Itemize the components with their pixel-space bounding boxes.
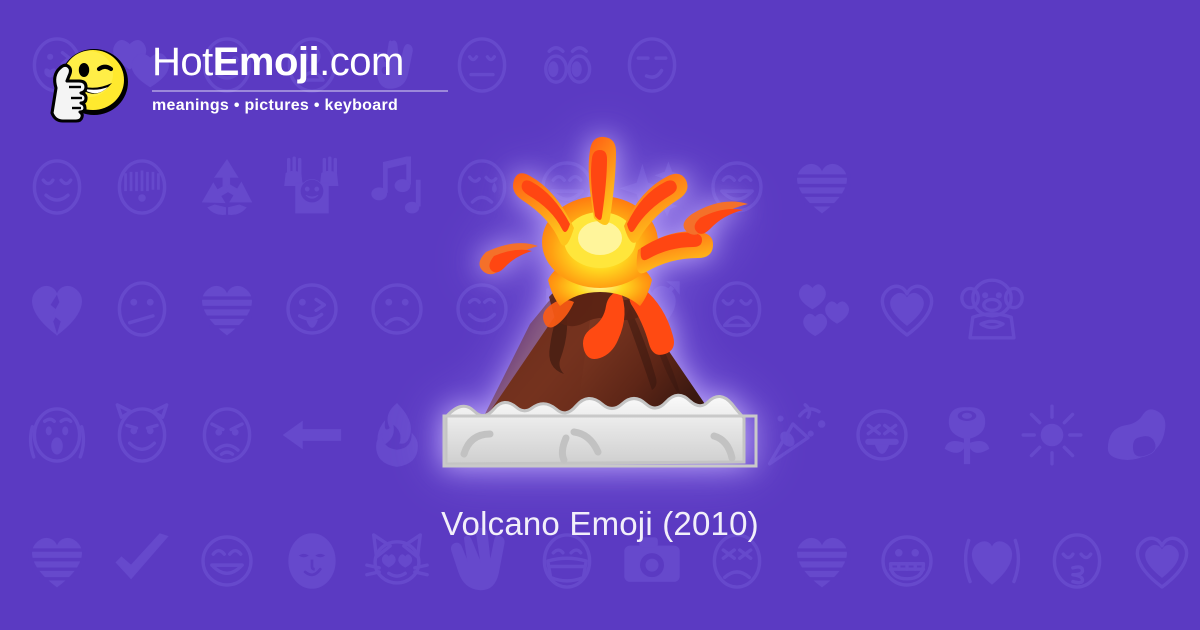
page-canvas: HotEmoji.com meanings • pictures • keybo… xyxy=(0,0,1200,630)
worried-face-icon xyxy=(360,272,434,346)
heart-outline-icon xyxy=(870,272,944,346)
winking-tongue-face-icon xyxy=(275,272,349,346)
broken-heart-icon xyxy=(20,272,94,346)
recycle-icon xyxy=(190,150,264,224)
logo-word-hot: Hot xyxy=(152,40,213,84)
rose-icon xyxy=(930,398,1004,472)
screaming-face-icon xyxy=(20,398,94,472)
squinting-tongue-face-icon xyxy=(845,398,919,472)
logo-text-block: HotEmoji.com meanings • pictures • keybo… xyxy=(152,37,448,115)
fire-icon xyxy=(360,398,434,472)
volcano-emoji xyxy=(424,132,776,488)
logo-wordmark: HotEmoji.com xyxy=(152,39,448,85)
flexed-biceps-icon xyxy=(1100,398,1174,472)
confused-face-icon xyxy=(105,272,179,346)
revolving-hearts-icon xyxy=(785,272,859,346)
zipper-mouth-face-icon xyxy=(105,150,179,224)
site-logo[interactable]: HotEmoji.com meanings • pictures • keybo… xyxy=(38,26,448,126)
striped-heart-icon xyxy=(785,150,859,224)
logo-tagline: meanings • pictures • keyboard xyxy=(152,97,448,115)
logo-word-emoji: Emoji xyxy=(213,40,319,84)
smiling-devil-face-icon xyxy=(105,398,179,472)
winking-smiley-thumbs-up-icon xyxy=(38,26,138,126)
left-arrow-icon xyxy=(275,398,349,472)
angry-face-icon xyxy=(190,398,264,472)
eyes-icon xyxy=(530,28,604,102)
relieved-face-icon xyxy=(20,150,94,224)
logo-divider xyxy=(152,90,448,92)
striped-heart-icon xyxy=(190,272,264,346)
musical-notes-icon xyxy=(360,150,434,224)
see-no-evil-monkey-icon xyxy=(955,272,1029,346)
page-title: Volcano Emoji (2010) xyxy=(0,504,1200,544)
person-raising-hands-icon xyxy=(275,150,349,224)
sun-icon xyxy=(1015,398,1089,472)
smirking-face-icon xyxy=(615,28,689,102)
logo-word-domain: .com xyxy=(319,40,404,84)
neutral-face-icon xyxy=(445,28,519,102)
